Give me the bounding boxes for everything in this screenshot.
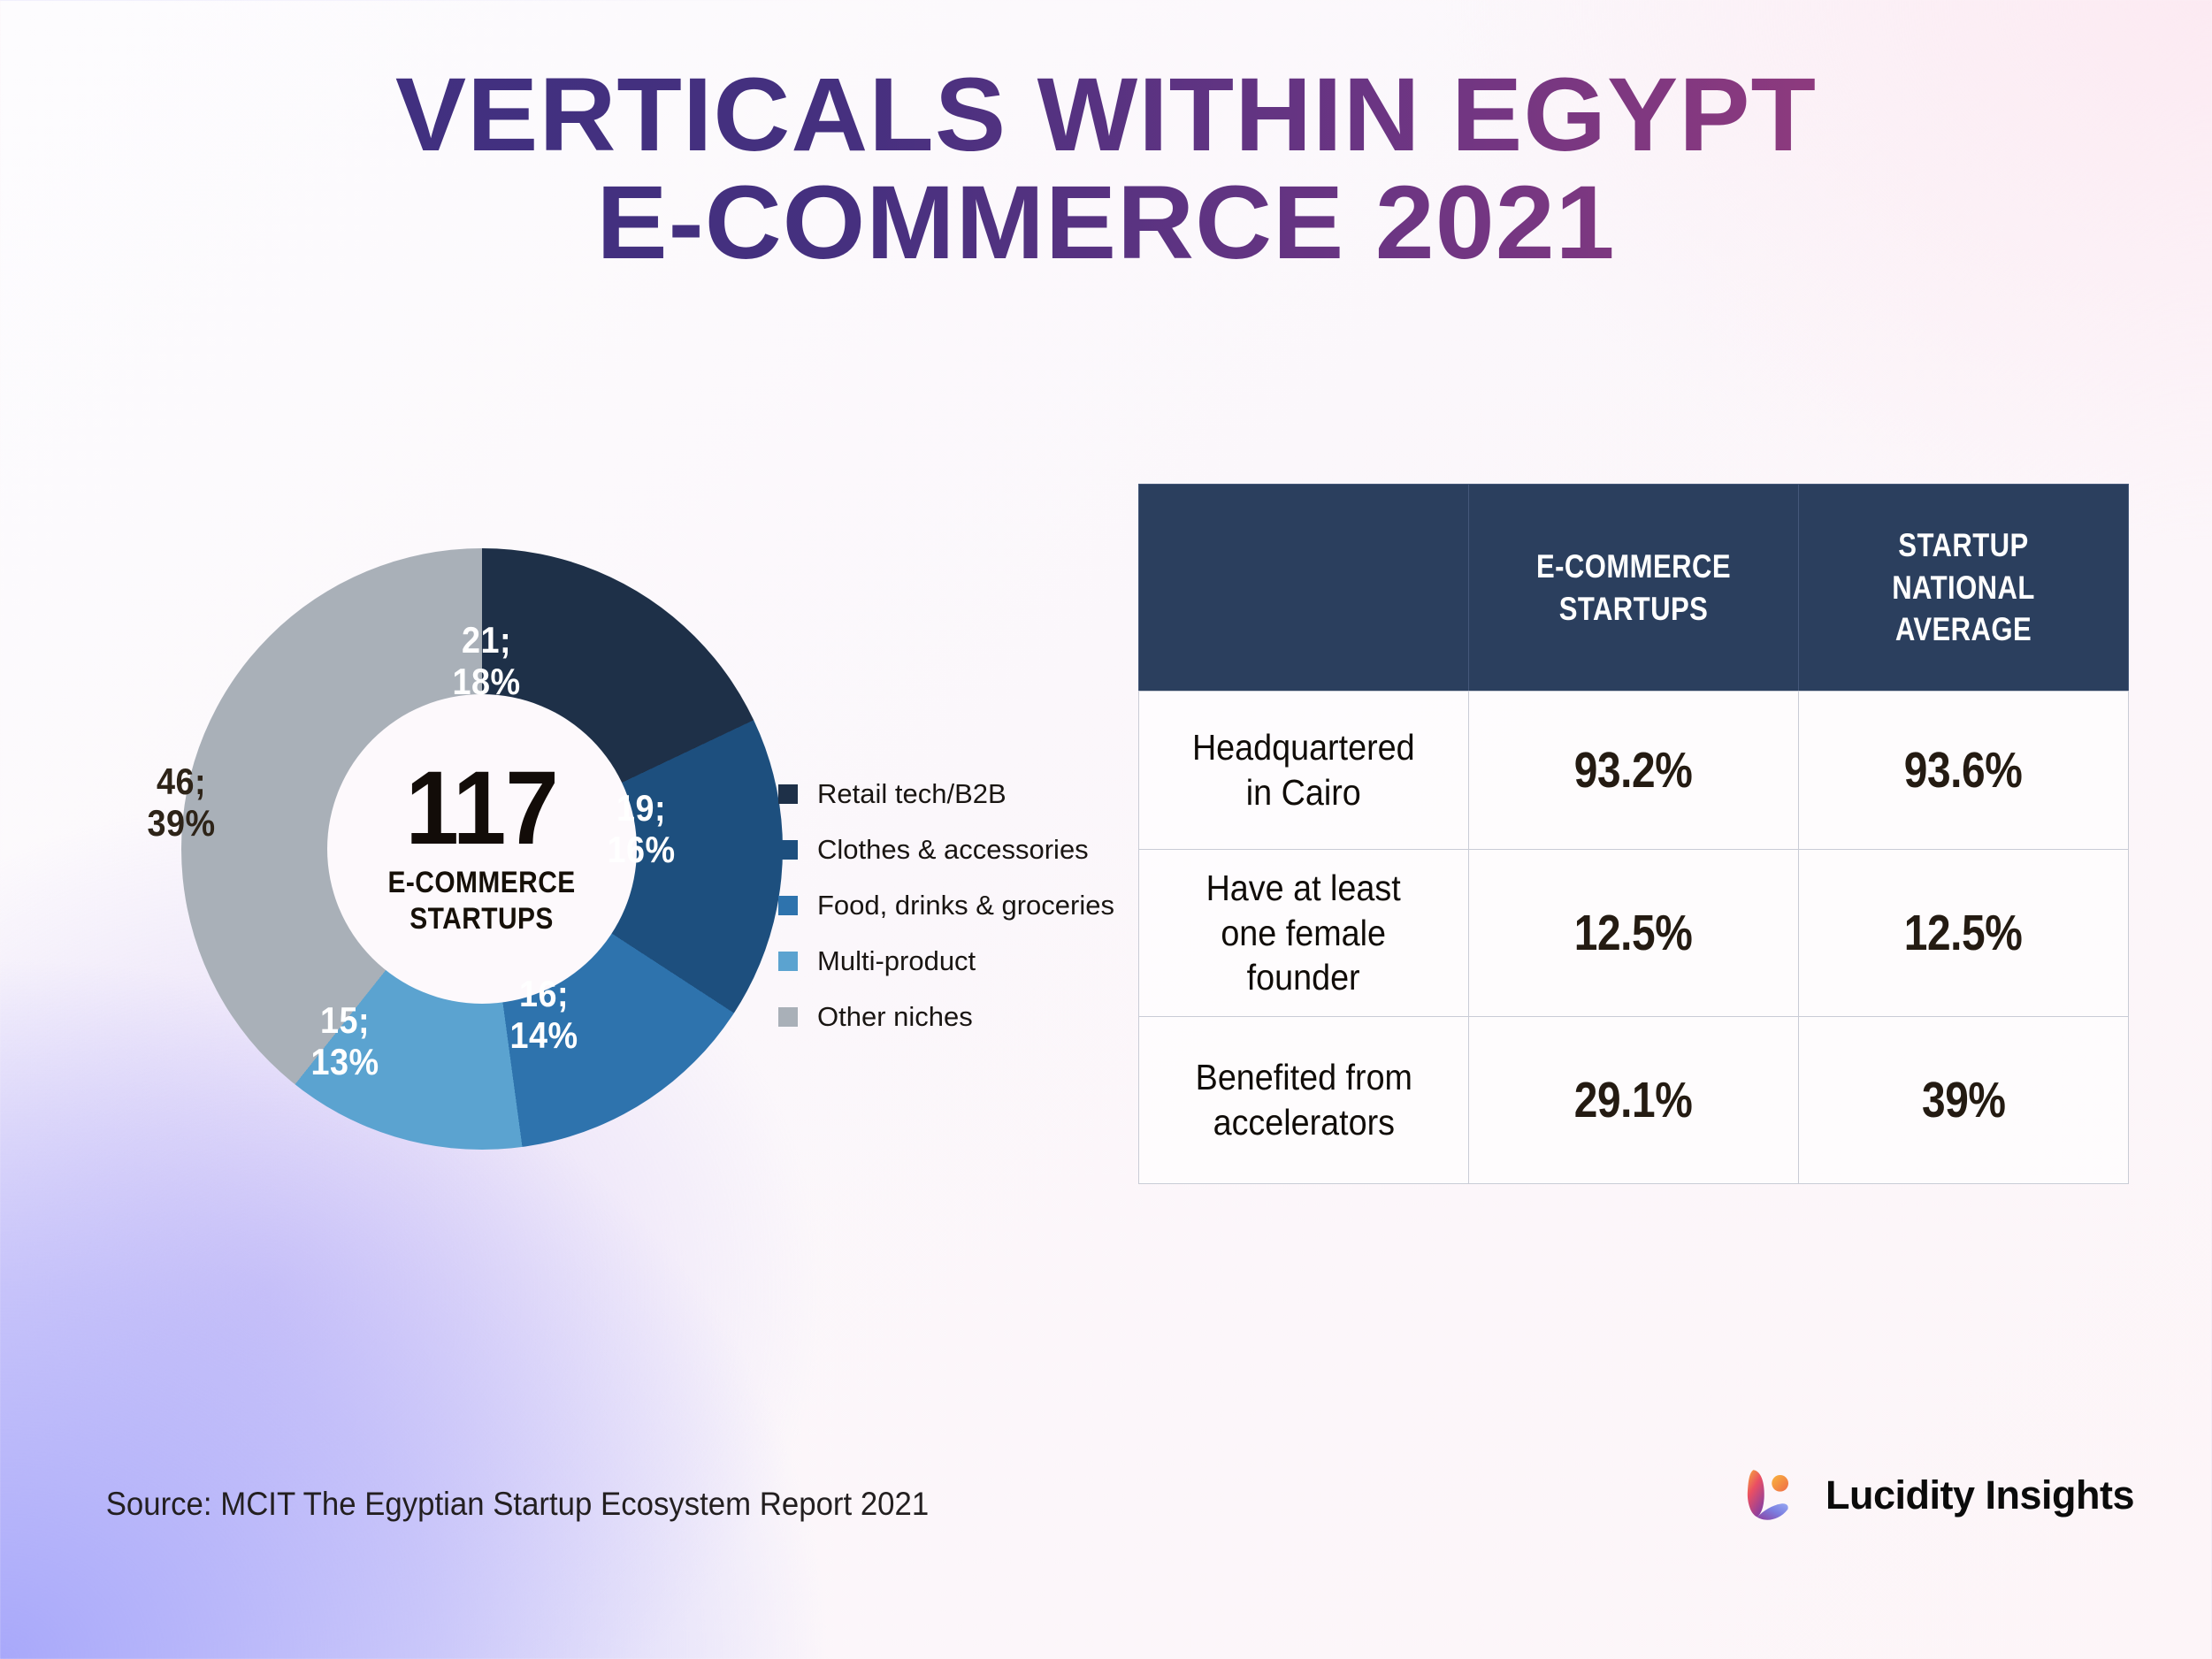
table-row: Have at least one female founder 12.5% 1… [1139, 850, 2132, 1017]
slice-label-clothes: 19; 16% [582, 787, 701, 870]
legend-item-label: Food, drinks & groceries [817, 890, 1114, 921]
row-label-line-1: Have at least [1206, 866, 1401, 911]
slice-label-percent: 13% [286, 1041, 405, 1082]
row-label-line-1: Headquartered [1192, 725, 1415, 770]
table-row-label-female-founder: Have at least one female founder [1138, 849, 1469, 1017]
table-cell-ecommerce: 29.1% [1468, 1016, 1799, 1184]
slice-label-value: 46; [122, 761, 241, 802]
slice-label-percent: 39% [122, 802, 241, 844]
donut-center-label-line-1: E-COMMERCE [388, 865, 576, 901]
table-cell-national: 12.5% [1798, 849, 2129, 1017]
slice-label-value: 15; [286, 999, 405, 1041]
legend-item-multi-product: Multi-product [778, 945, 1114, 977]
legend-item-label: Clothes & accessories [817, 834, 1089, 866]
legend-swatch-icon [778, 896, 798, 915]
table-header-ecommerce-startups: E-COMMERCE STARTUPS [1468, 484, 1799, 692]
legend-item-label: Other niches [817, 1001, 973, 1033]
slice-label-percent: 18% [431, 661, 542, 702]
table-header-blank [1138, 484, 1469, 692]
table-cell-ecommerce: 12.5% [1468, 849, 1799, 1017]
table-header-line-1: STARTUP NATIONAL [1825, 524, 2101, 608]
table-cell-ecommerce: 93.2% [1468, 691, 1799, 850]
donut-center-label-line-2: STARTUPS [388, 901, 576, 937]
brand-logo: Lucidity Insights [1741, 1464, 2134, 1527]
slice-label-percent: 16% [582, 829, 701, 870]
lucidity-logo-icon [1741, 1464, 1804, 1527]
table-cell-national: 39% [1798, 1016, 2129, 1184]
table-header-national-average: STARTUP NATIONAL AVERAGE [1798, 484, 2129, 692]
table-row-label-headquartered: Headquartered in Cairo [1138, 691, 1469, 850]
table-cell-national: 93.6% [1798, 691, 2129, 850]
donut-total-number: 117 [406, 761, 558, 857]
table-header-line-1: E-COMMERCE [1536, 546, 1731, 587]
slice-label-other-niches: 46; 39% [122, 761, 241, 844]
row-label-line-2: in Cairo [1192, 770, 1415, 815]
table-row: Benefited from accelerators 29.1% 39% [1139, 1017, 2132, 1184]
table-header-row: E-COMMERCE STARTUPS STARTUP NATIONAL AVE… [1139, 485, 2132, 692]
table-row-label-accelerators: Benefited from accelerators [1138, 1016, 1469, 1184]
row-label-line-3: founder [1206, 955, 1401, 1000]
source-note: Source: MCIT The Egyptian Startup Ecosys… [106, 1486, 930, 1523]
legend-swatch-icon [778, 1007, 798, 1027]
legend-item-label: Retail tech/B2B [817, 778, 1006, 810]
slice-label-percent: 14% [485, 1014, 604, 1056]
legend-swatch-icon [778, 784, 798, 804]
legend-swatch-icon [778, 952, 798, 971]
legend-item-clothes: Clothes & accessories [778, 834, 1114, 866]
row-label-line-2: one female [1206, 911, 1401, 956]
slice-label-multi-product: 15; 13% [286, 999, 405, 1082]
page-title-line-1: Verticals Within Egypt [0, 62, 2212, 170]
comparison-table: E-COMMERCE STARTUPS STARTUP NATIONAL AVE… [1139, 485, 2132, 1184]
table-header-line-2: AVERAGE [1825, 608, 2101, 650]
brand-name: Lucidity Insights [1825, 1472, 2134, 1518]
slice-label-retail-tech: 21; 18% [431, 619, 542, 702]
donut-center-label: E-COMMERCE STARTUPS [388, 865, 576, 937]
slice-label-value: 21; [431, 619, 542, 661]
legend-item-label: Multi-product [817, 945, 976, 977]
chart-legend: Retail tech/B2B Clothes & accessories Fo… [778, 778, 1114, 1057]
slice-label-value: 16; [485, 973, 604, 1014]
legend-swatch-icon [778, 840, 798, 860]
legend-item-food: Food, drinks & groceries [778, 890, 1114, 921]
slice-label-food: 16; 14% [485, 973, 604, 1056]
row-label-line-2: accelerators [1195, 1100, 1412, 1145]
row-label-line-1: Benefited from [1195, 1055, 1412, 1100]
donut-chart: 117 E-COMMERCE STARTUPS 21; 18% 19; 16% … [133, 531, 805, 1220]
table-row: Headquartered in Cairo 93.2% 93.6% [1139, 692, 2132, 850]
legend-item-retail-tech: Retail tech/B2B [778, 778, 1114, 810]
legend-item-other-niches: Other niches [778, 1001, 1114, 1033]
page-title-line-2: E-Commerce 2021 [0, 170, 2212, 278]
page-title: Verticals Within Egypt E-Commerce 2021 [0, 62, 2212, 277]
table-header-line-2: STARTUPS [1536, 588, 1731, 630]
slice-label-value: 19; [582, 787, 701, 829]
